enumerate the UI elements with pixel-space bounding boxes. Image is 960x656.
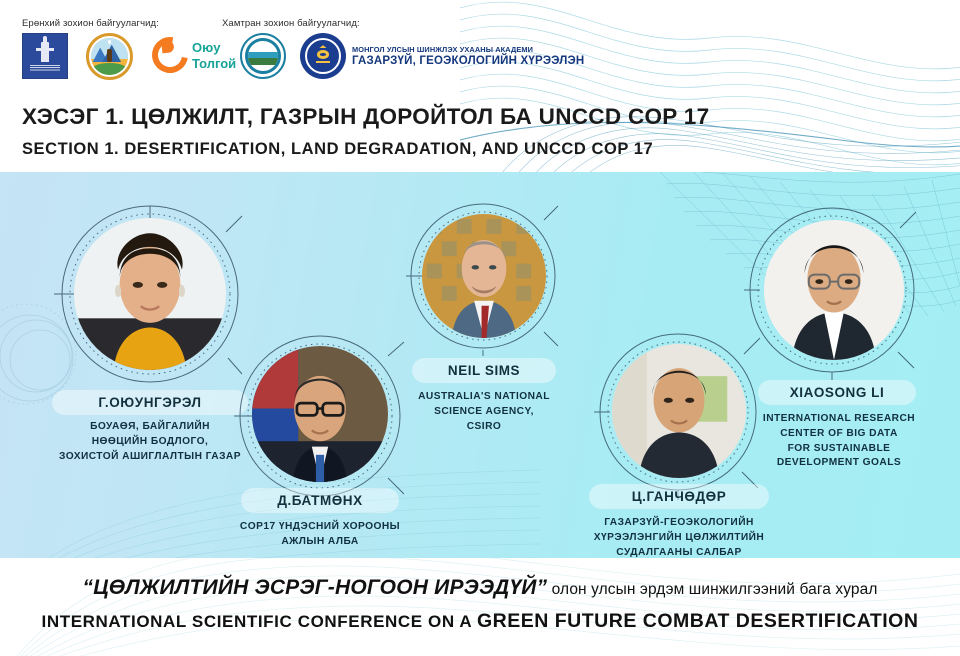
banner-en-highlight: GREEN FUTURE COMBAT DESERTIFICATION	[477, 610, 918, 632]
speaker-name-pill-4: Ц.ГАНЧӨДӨР	[589, 484, 769, 509]
speaker-name-pill-5: XIAOSONG LI	[758, 380, 916, 405]
soyombo-circle-icon	[317, 50, 330, 59]
mongolia-government-emblem-logo	[22, 33, 68, 79]
speaker-photo-4	[612, 344, 746, 478]
speakers-panel: Г.ОЮУНГЭРЭЛ БОУАӨЯ, БАЙГАЛИЙН НӨӨЦИЙН БО…	[0, 172, 960, 558]
sun-icon	[108, 40, 111, 43]
speaker-affiliation-4: ГАЗАРЗҮЙ-ГЕОЭКОЛОГИЙН ХҮРЭЭЛЭНГИЙН ЦӨЛЖИ…	[568, 516, 790, 558]
oyu-tolgoi-logo: Оюу Толгой	[152, 33, 252, 79]
emblem-text-lines	[30, 65, 60, 71]
banner-mn-rest: олон улсын эрдэм шинжилгээний бага хурал	[547, 581, 877, 598]
emblem-inner	[245, 38, 281, 74]
banner-wave-decoration	[0, 558, 960, 656]
speaker-affiliation-2: COP17 ҮНДЭСНИЙ ХОРООНЫ АЖЛЫН АЛБА	[222, 520, 418, 550]
speaker-card-5: XIAOSONG LI INTERNATIONAL RESEARCH CENTE…	[742, 204, 960, 464]
partner-teal-emblem-logo	[240, 33, 286, 79]
organizer-label-partner: Хамтран зохион байгуулагчид:	[222, 18, 360, 29]
emblem-inner	[305, 38, 341, 74]
portrait-image	[764, 220, 904, 360]
banner-en-prefix: INTERNATIONAL SCIENTIFIC CONFERENCE ON A	[42, 612, 477, 631]
oyu-tolgoi-line1: Оюу	[192, 40, 220, 55]
oyu-tolgoi-mark-icon	[145, 30, 195, 80]
speaker-photo-3	[422, 214, 546, 338]
portrait-wrap	[50, 202, 250, 382]
ministry-environment-emblem-logo	[86, 33, 133, 80]
poster-footer-banner: “ЦӨЛЖИЛТИЙН ЭСРЭГ-НОГООН ИРЭЭДҮЙ” олон у…	[0, 558, 960, 656]
academy-wordmark: МОНГОЛ УЛСЫН ШИНЖЛЭХ УХААНЫ АКАДЕМИ ГАЗА…	[352, 33, 584, 79]
portrait-wrap	[232, 332, 408, 500]
portrait-image	[422, 214, 546, 338]
soyombo-bar-icon	[316, 61, 330, 63]
speaker-photo-5	[764, 220, 904, 360]
mas-soyombo-emblem-logo	[300, 33, 346, 79]
grass-shape	[91, 63, 128, 75]
oyu-tolgoi-line2: Толгой	[192, 56, 236, 71]
portrait-image	[612, 344, 746, 478]
academy-line-2: ГАЗАРЗҮЙ, ГЕОЭКОЛОГИЙН ХҮРЭЭЛЭН	[352, 55, 584, 67]
speaker-card-3: NEIL SIMS AUSTRALIA'S NATIONAL SCIENCE A…	[404, 200, 604, 430]
portrait-wrap	[404, 200, 562, 352]
conference-poster: Ерөнхий зохион байгуулагчид: Хамтран зох…	[0, 0, 960, 656]
portrait-image	[74, 218, 226, 370]
banner-mn-quote: “ЦӨЛЖИЛТИЙН ЭСРЭГ-НОГООН ИРЭЭДҮЙ”	[83, 576, 548, 599]
land-band	[248, 58, 278, 65]
section-title-mn: ХЭСЭГ 1. ЦӨЛЖИЛТ, ГАЗРЫН ДОРОЙТОЛ БА UNC…	[22, 104, 709, 130]
speaker-name-pill-1: Г.ОЮУНГЭРЭЛ	[52, 390, 248, 415]
banner-line-en: INTERNATIONAL SCIENTIFIC CONFERENCE ON A…	[0, 610, 960, 633]
speaker-photo-2	[252, 346, 388, 482]
speaker-name-pill-3: NEIL SIMS	[412, 358, 556, 383]
speaker-affiliation-3: AUSTRALIA'S NATIONAL SCIENCE AGENCY, CSI…	[390, 390, 578, 434]
speaker-photo-1	[74, 218, 226, 370]
organizer-label-primary: Ерөнхий зохион байгуулагчид:	[22, 18, 159, 29]
portrait-image	[252, 346, 388, 482]
speaker-name-pill-2: Д.БАТМӨНХ	[241, 488, 399, 513]
banner-line-mn: “ЦӨЛЖИЛТИЙН ЭСРЭГ-НОГООН ИРЭЭДҮЙ” олон у…	[0, 576, 960, 600]
soyombo-flame-icon	[319, 45, 327, 48]
poster-header: Ерөнхий зохион байгуулагчид: Хамтран зох…	[0, 0, 960, 172]
section-title-en: SECTION 1. DESERTIFICATION, LAND DEGRADA…	[22, 140, 653, 159]
academy-line-1: МОНГОЛ УЛСЫН ШИНЖЛЭХ УХААНЫ АКАДЕМИ	[352, 45, 584, 54]
horse-icon	[107, 49, 113, 62]
speaker-affiliation-5: INTERNATIONAL RESEARCH CENTER OF BIG DAT…	[736, 412, 942, 471]
emblem-inner	[91, 38, 128, 75]
monument-icon	[41, 42, 49, 62]
portrait-wrap	[742, 204, 922, 376]
